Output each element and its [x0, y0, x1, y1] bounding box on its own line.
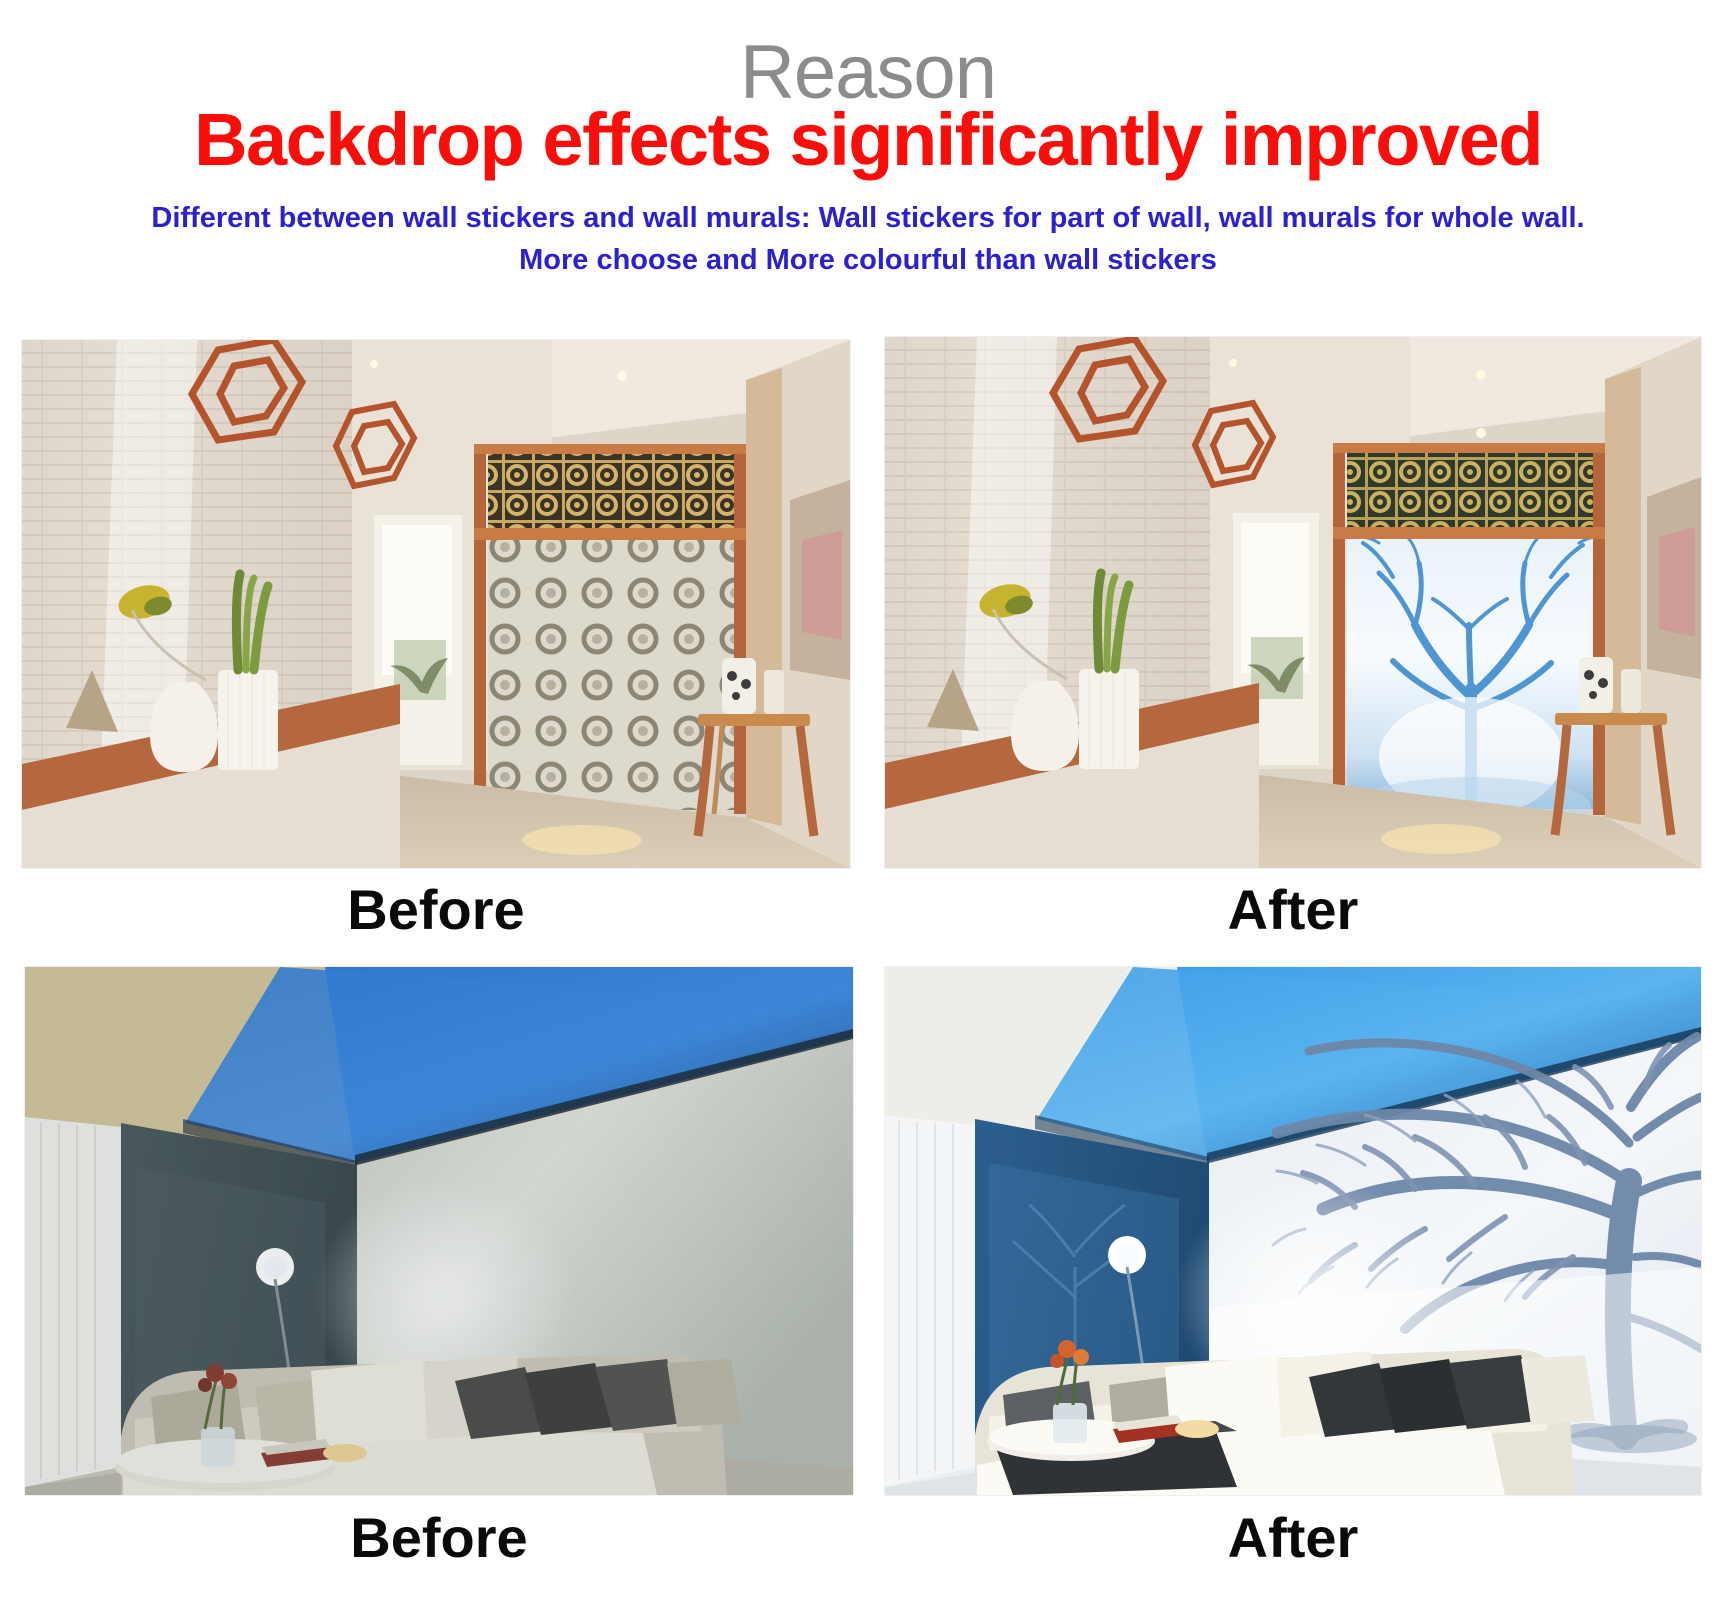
caption-row2-before: Before — [25, 1508, 853, 1568]
comparison-image-row2-before — [25, 967, 853, 1495]
caption-row1-before: Before — [22, 880, 850, 940]
caption-row1-after: After — [885, 880, 1701, 940]
caption-row2-after: After — [885, 1508, 1701, 1568]
comparison-grid: Before — [0, 0, 1736, 1600]
livingroom-before-illustration — [25, 967, 853, 1495]
comparison-image-row2-after — [885, 967, 1701, 1495]
livingroom-after-illustration — [885, 967, 1701, 1495]
photo-hallway-before — [22, 340, 850, 868]
photo-livingroom-after — [885, 967, 1701, 1495]
photo-hallway-after — [885, 337, 1701, 868]
comparison-image-row1-after — [885, 337, 1701, 868]
hallway-before-illustration — [22, 340, 850, 868]
promo-banner: Reason Backdrop effects significantly im… — [0, 0, 1736, 1600]
comparison-image-row1-before — [22, 340, 850, 868]
hallway-after-illustration — [885, 337, 1701, 868]
photo-livingroom-before — [25, 967, 853, 1495]
